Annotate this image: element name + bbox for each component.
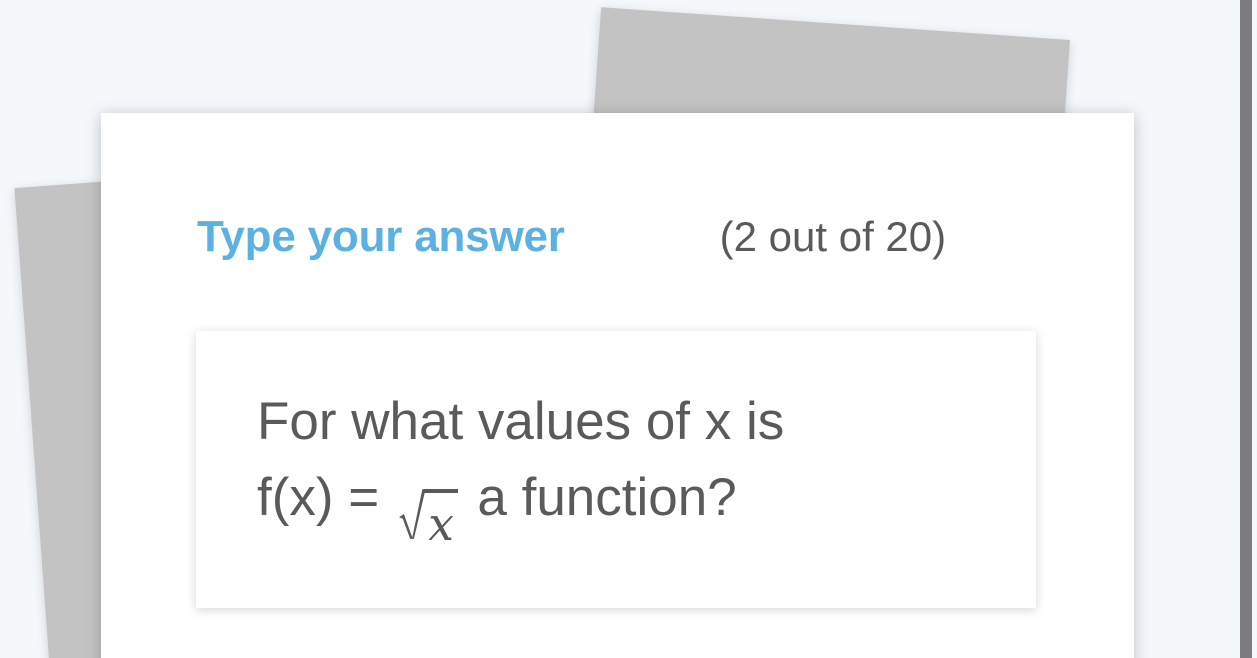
question-panel: For what values of x is f(x) = x a funct… [196, 331, 1036, 608]
vertical-scrollbar-track[interactable] [1240, 0, 1257, 658]
card-header: Type your answer (2 out of 20) [197, 212, 1064, 274]
question-text: For what values of x is f(x) = x a funct… [257, 384, 1016, 539]
question-line-1: For what values of x is [257, 392, 784, 451]
app-root: Type your answer (2 out of 20) For what … [0, 0, 1257, 658]
vertical-scrollbar-thumb[interactable] [1240, 0, 1252, 658]
question-card: Type your answer (2 out of 20) For what … [101, 113, 1134, 658]
question-line-2-prefix: f(x) = [257, 468, 394, 527]
sqrt-math-expression: x [398, 487, 457, 539]
progress-counter: (2 out of 20) [720, 213, 946, 261]
question-line-2-suffix: a function? [463, 468, 737, 527]
radicand-value: x [425, 502, 456, 548]
page-title: Type your answer [197, 212, 565, 262]
radical-sign-icon [398, 487, 426, 539]
radical-overbar [424, 489, 457, 493]
